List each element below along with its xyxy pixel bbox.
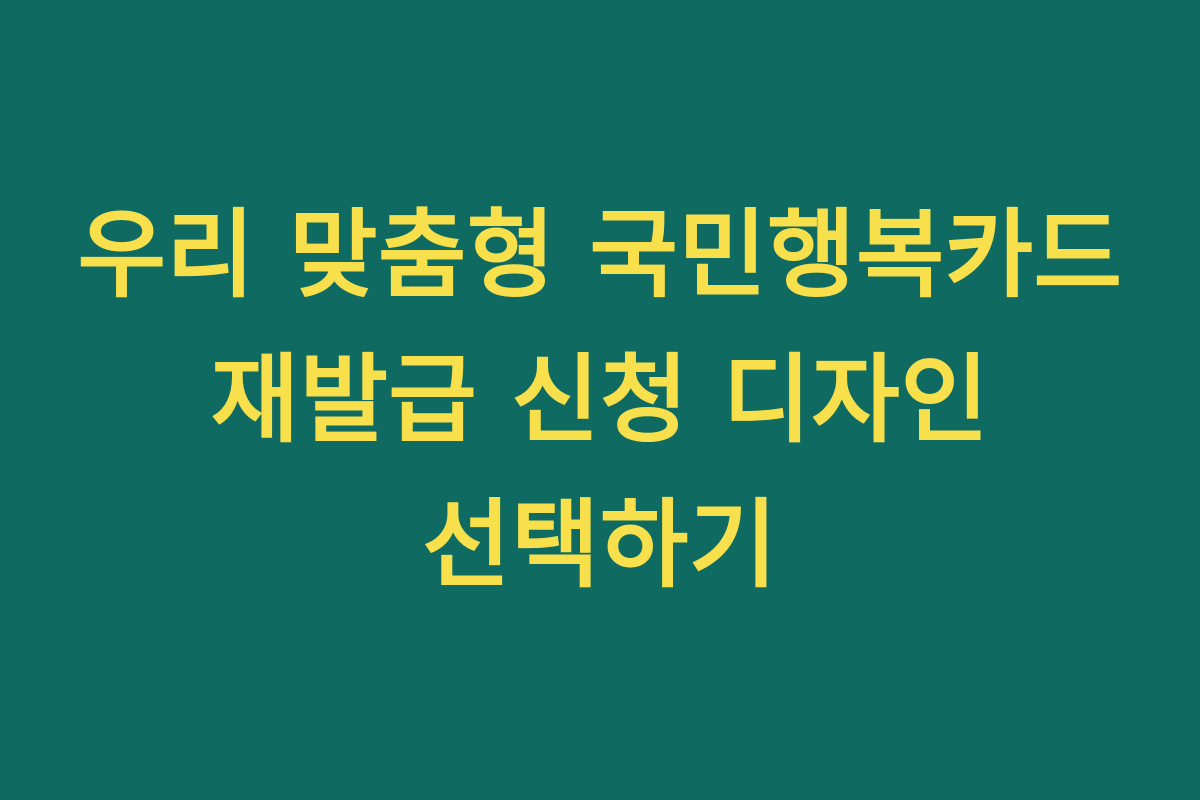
banner-canvas: 우리 맞춤형 국민행복카드 재발급 신청 디자인 선택하기 <box>0 0 1200 800</box>
title-block: 우리 맞춤형 국민행복카드 재발급 신청 디자인 선택하기 <box>50 183 1150 618</box>
page-title: 우리 맞춤형 국민행복카드 재발급 신청 디자인 선택하기 <box>60 183 1140 618</box>
